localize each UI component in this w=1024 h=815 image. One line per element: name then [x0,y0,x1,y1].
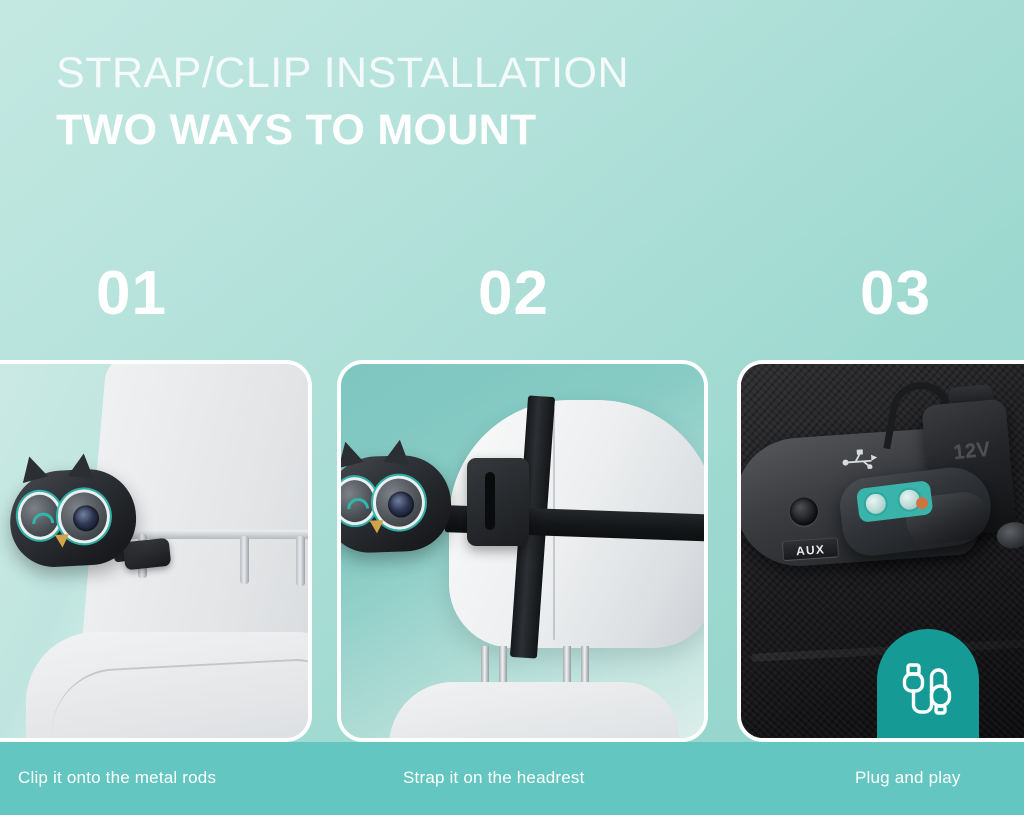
headrest-rod-horizontal [126,530,312,539]
step-number-02: 02 [478,263,549,325]
aux-jack-port [789,497,819,527]
step-number-03: 03 [860,263,931,325]
plug-eye-left-icon [862,490,889,517]
camera-lens-icon [388,491,415,518]
cat-beak-icon [370,520,384,533]
cat-ear-left-icon [17,453,48,483]
cat-eye-left [337,476,378,526]
usb-cable-icon [895,655,961,721]
headrest-rod-3 [296,536,305,586]
title-line-2: TWO WAYS TO MOUNT [56,105,629,156]
page-header: STRAP/CLIP INSTALLATION TWO WAYS TO MOUN… [56,48,629,155]
step-panel-03[interactable]: AUX 12V [737,360,1024,742]
bracket-strap-slot [485,472,495,530]
title-line-1: STRAP/CLIP INSTALLATION [56,48,629,99]
panel-1-scene [0,364,308,738]
cat-ear-right-icon [384,438,413,465]
step-caption-02: Strap it on the headrest [403,768,585,788]
headrest-rod-2 [240,536,249,584]
caption-bar: Clip it onto the metal rods Strap it on … [0,742,1024,815]
step-panel-02[interactable] [337,360,708,742]
camera-lens-icon [72,505,99,532]
cat-camera-device [8,467,139,569]
smile-arc-icon [32,512,55,524]
car-seat-back-lower [389,682,679,742]
cat-camera-device [337,454,453,554]
strap-bracket-plate [467,458,529,546]
cat-ear-right-icon [68,452,97,479]
step-number-01: 01 [96,263,167,325]
clip-mount-clamp [123,538,172,571]
usb-port-icon [838,446,886,475]
step-caption-03: Plug and play [855,768,961,788]
aux-port-label: AUX [782,537,839,561]
cat-eye-left [17,491,63,541]
step-caption-01: Clip it onto the metal rods [18,768,216,788]
smile-arc-icon [347,498,369,510]
step-panel-01[interactable] [0,360,312,742]
usb-cable-badge [877,629,979,742]
panel-2-scene [341,364,704,738]
cat-beak-icon [55,534,70,548]
cat-ear-left-icon [337,439,364,469]
panel-3-scene: AUX 12V [741,364,1024,738]
